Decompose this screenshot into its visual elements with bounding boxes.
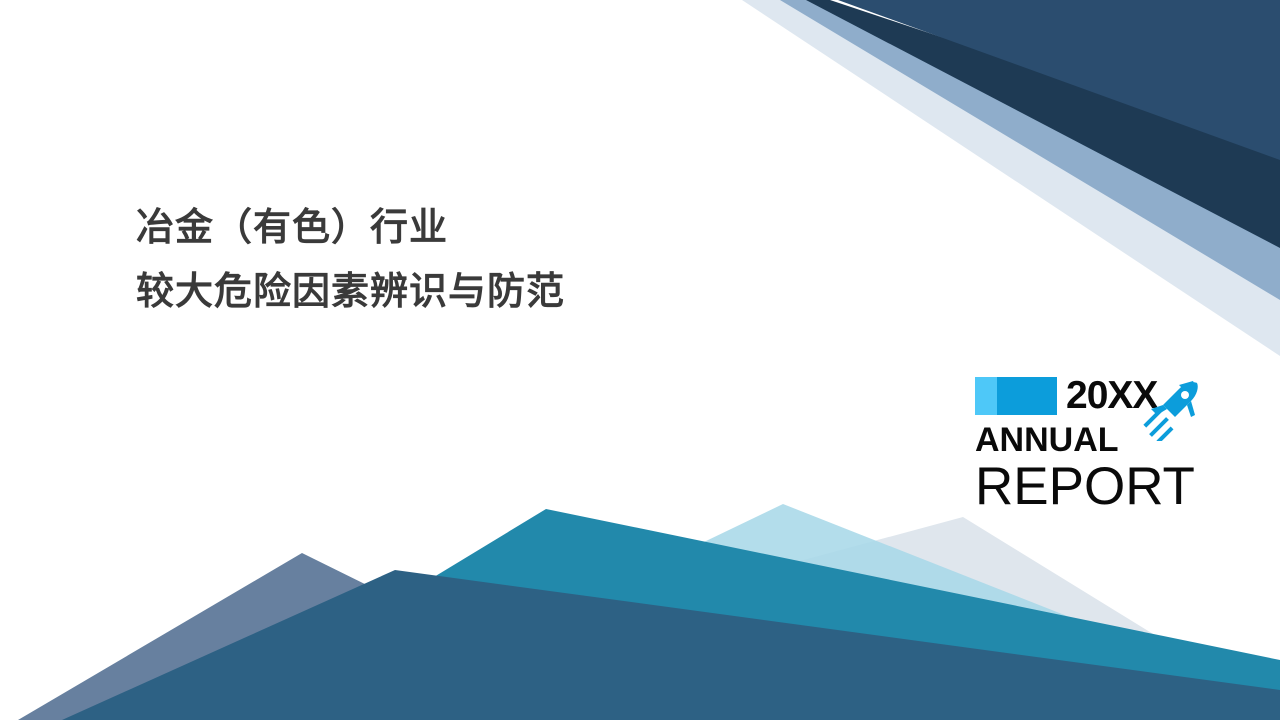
logo-bar-icon xyxy=(975,377,1057,415)
logo-bar-light-segment xyxy=(975,377,997,415)
annual-report-logo: 20XX ANNUAL xyxy=(975,376,1215,515)
title-slide: 冶金（有色）行业 较大危险因素辨识与防范 20XX ANNUAL xyxy=(0,0,1280,720)
mountain-pale-gray xyxy=(600,517,1280,720)
mountain-teal xyxy=(300,509,1280,720)
logo-report-label: REPORT xyxy=(975,459,1215,515)
band-navy-mid xyxy=(838,0,1280,160)
logo-middle-row: ANNUAL xyxy=(975,419,1215,461)
title-line-2: 较大危险因素辨识与防范 xyxy=(136,260,856,324)
mountain-steel-blue xyxy=(62,570,1280,720)
band-navy-dark xyxy=(806,0,1280,248)
mountain-pale-cyan xyxy=(410,504,1280,720)
logo-bar-dark-segment xyxy=(997,377,1057,415)
mountain-gray-blue xyxy=(18,553,640,720)
mountain-decoration xyxy=(0,0,1280,720)
rocket-icon xyxy=(1139,375,1205,441)
corner-decoration xyxy=(0,0,1280,720)
page-title: 冶金（有色）行业 较大危险因素辨识与防范 xyxy=(136,196,856,324)
title-line-1: 冶金（有色）行业 xyxy=(136,196,856,260)
